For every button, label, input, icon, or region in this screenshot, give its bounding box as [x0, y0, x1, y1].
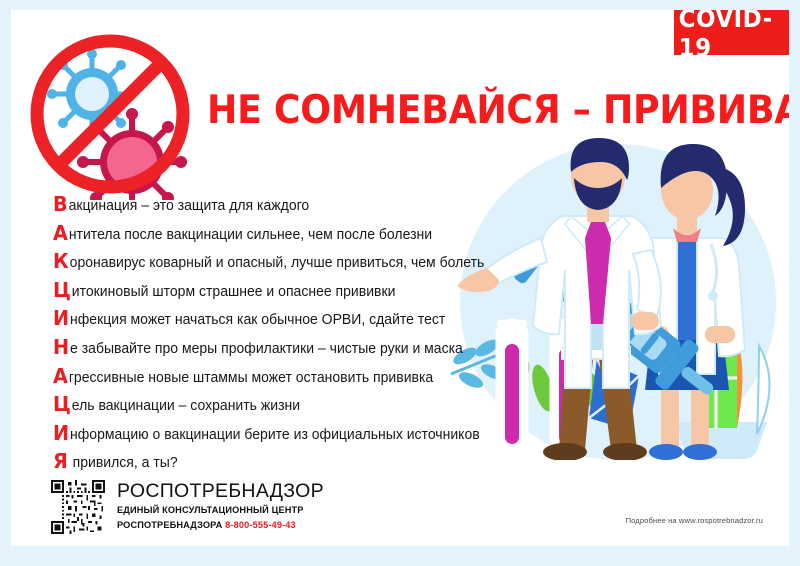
acrostic-text: грессивные новые штаммы может остановить…	[69, 370, 433, 386]
acrostic-line: Цитокиновый шторм страшнее и опаснее при…	[53, 278, 504, 307]
acrostic-line: Я привился, а ты?	[53, 449, 504, 478]
acrostic-line: Цель вакцинации – сохранить жизни	[53, 392, 504, 421]
consultation-center-prefix: РОСПОТРЕБНАДЗОРА	[117, 520, 222, 530]
acrostic-text: нфекция может начаться как обычное ОРВИ,…	[70, 312, 445, 328]
acrostic-text: нформацию о вакцинации берите из официал…	[70, 427, 480, 443]
acrostic-line: Не забывайте про меры профилактики – чис…	[53, 335, 504, 364]
acrostic-line: Вакцинация – это защита для каждого	[53, 192, 504, 221]
acrostic-line: Антитела после вакцинации сильнее, чем п…	[53, 221, 504, 250]
footer-text: РОСПОТРЕБНАДЗОР ЕДИНЫЙ КОНСУЛЬТАЦИОННЫЙ …	[117, 480, 324, 531]
page-title: НЕ СОМНЕВАЙСЯ – ПРИВИВАЙСЯ!	[207, 88, 691, 133]
acrostic-capital: К	[53, 249, 69, 273]
acrostic-line: Информацию о вакцинации берите из официа…	[53, 421, 504, 450]
qr-code-icon[interactable]	[51, 480, 105, 534]
acrostic-capital: Ц	[53, 392, 71, 416]
covid19-badge-label: COVID-19	[679, 10, 785, 62]
acrostic-capital: В	[53, 192, 68, 216]
acrostic-capital: А	[53, 364, 68, 388]
covid19-badge: COVID-19	[674, 10, 789, 55]
acrostic-capital: Ц	[53, 278, 71, 302]
acrostic-capital: А	[53, 221, 68, 245]
acrostic-capital: И	[53, 306, 69, 330]
acrostic-text: е забывайте про меры профилактики – чист…	[70, 341, 463, 357]
acrostic-line: Инфекция может начаться как обычное ОРВИ…	[53, 306, 504, 335]
organization-name: РОСПОТРЕБНАДЗОР	[117, 481, 324, 502]
acrostic-text: итокиновый шторм страшнее и опаснее прив…	[72, 284, 396, 300]
acrostic-text: ель вакцинации – сохранить жизни	[72, 398, 300, 414]
acrostic-text: привился, а ты?	[69, 455, 178, 471]
acrostic-capital: И	[53, 421, 69, 445]
poster-root: COVID-19	[0, 0, 800, 566]
hotline-phone[interactable]: 8-800-555-49-43	[225, 520, 296, 530]
poster-card: COVID-19	[11, 10, 789, 546]
acrostic-line: Коронавирус коварный и опасный, лучше пр…	[53, 249, 504, 278]
consultation-center-line1: ЕДИНЫЙ КОНСУЛЬТАЦИОННЫЙ ЦЕНТР	[117, 505, 324, 517]
acrostic-capital: Я	[53, 449, 68, 473]
no-virus-icon	[24, 28, 196, 200]
more-info-link[interactable]: Подробнее на www.rospotrebnadzor.ru	[626, 516, 763, 525]
acrostic-text: акцинация – это защита для каждого	[69, 198, 310, 214]
acrostic-capital: Н	[53, 335, 69, 359]
acrostic-text: нтитела после вакцинации сильнее, чем по…	[69, 227, 432, 243]
acrostic-list: Вакцинация – это защита для каждого Анти…	[53, 192, 523, 478]
footer: РОСПОТРЕБНАДЗОР ЕДИНЫЙ КОНСУЛЬТАЦИОННЫЙ …	[51, 480, 324, 534]
acrostic-line: Агрессивные новые штаммы может остановит…	[53, 364, 504, 393]
consultation-center-line2: РОСПОТРЕБНАДЗОРА 8-800-555-49-43	[117, 520, 324, 532]
acrostic-text: оронавирус коварный и опасный, лучше при…	[70, 255, 485, 271]
